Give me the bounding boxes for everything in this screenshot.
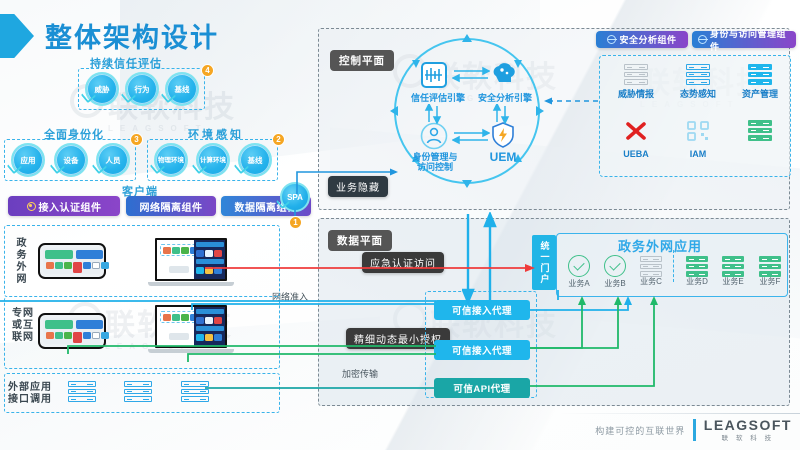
flow-line-access-blue-2 (0, 298, 440, 304)
item-threat-intel[interactable]: 威胁情报 (607, 64, 665, 100)
arrow-pair-bottom-icon (452, 128, 490, 146)
label-encrypted-transport: 加密传输 (342, 367, 378, 380)
proxy-trusted-api[interactable]: 可信API代理 (434, 378, 530, 398)
ring-threat[interactable]: 威胁 (85, 72, 119, 106)
analytics-icon (421, 62, 447, 88)
architecture-diagram-canvas: 联软科技 LEAGSOFT 联软科技 LEAGSOFT 联软科技 LEAGSOF… (0, 0, 800, 450)
server-icon (686, 64, 710, 85)
item-situation-awareness[interactable]: 态势感知 (669, 64, 727, 100)
footer-slogan: 构建可控的互联世界 (595, 424, 685, 437)
flow-line-emergency-red (205, 262, 745, 274)
badge-1: 1 (289, 216, 302, 229)
tag-iam-component[interactable]: 身份与访问管理组件 (692, 31, 796, 48)
ring-behavior[interactable]: 行为 (125, 72, 159, 106)
globe-icon (698, 35, 707, 44)
arrow-pair-top-icon (452, 66, 490, 84)
app-business-f[interactable]: 业务F (752, 256, 788, 287)
page-title: 整体架构设计 (45, 16, 219, 55)
proxy-trusted-access-2[interactable]: 可信接入代理 (434, 340, 530, 360)
shield-bolt-icon (491, 122, 515, 148)
node-label-identity-access: 身份管理与访问控制 (404, 152, 466, 172)
badge-4: 4 (201, 64, 214, 77)
phone-screen (43, 248, 101, 274)
ring-physical-env[interactable]: 物理环境 (154, 143, 188, 177)
arrow-pair-left-vertical-icon (424, 104, 444, 124)
item-iam[interactable]: IAM (669, 120, 727, 159)
external-server-1 (68, 381, 96, 405)
flow-line-green-2 (184, 340, 440, 364)
flow-line-teal (205, 385, 441, 391)
server-filled-icon (748, 64, 772, 85)
zone-label-private-internet: 专网或互联网 (10, 308, 36, 344)
tag-security-analysis-component[interactable]: 安全分析组件 (596, 31, 688, 48)
server-green-icon (748, 120, 772, 141)
item-green-server[interactable] (731, 120, 789, 143)
ring-device[interactable]: 设备 (54, 143, 88, 177)
title-arrow-icon (0, 14, 34, 58)
footer-divider-bar (693, 419, 696, 441)
qr-icon (686, 120, 710, 142)
node-label-security-engine: 安全分析引擎 (474, 93, 536, 103)
spa-to-circle-arrow-icon (295, 166, 405, 200)
server-icon (624, 64, 648, 85)
ring-personnel[interactable]: 人员 (96, 143, 130, 177)
arrow-pair-right-vertical-icon (492, 104, 512, 124)
zone-label-external-api: 外部应用接口调用 (8, 382, 60, 406)
laptop-screen (155, 238, 227, 281)
brand-name: LEAGSOFT (704, 418, 792, 432)
control-plane-title: 控制平面 (330, 50, 394, 71)
zone-label-gov-extranet: 政务外网 (10, 238, 34, 286)
components-to-circle-arrow-icon (540, 94, 600, 108)
component-network-isolation[interactable]: 网络隔离组件 (126, 196, 216, 216)
node-label-trust-engine: 信任评估引擎 (408, 93, 468, 103)
node-label-uem: UEM (481, 152, 525, 162)
x-mark-icon (624, 120, 648, 142)
ring-compute-env[interactable]: 计算环境 (196, 143, 230, 177)
badge-3: 3 (130, 133, 143, 146)
gov-apps-title: 政务外网应用 (618, 236, 702, 255)
user-icon (420, 122, 448, 150)
globe-icon (607, 35, 616, 44)
flow-lines-proxy-to-apps (530, 296, 780, 392)
component-access-auth[interactable]: 接入认证组件 (8, 196, 120, 216)
item-asset-management[interactable]: 资产管理 (731, 64, 789, 100)
proxy-control-vertical-arrows-icon (462, 212, 506, 304)
phone-device-1 (38, 243, 106, 279)
badge-2: 2 (272, 133, 285, 146)
footer: 构建可控的互联世界 LEAGSOFT 联 软 科 技 (595, 418, 792, 442)
server-green-icon (759, 256, 781, 275)
ring-env-baseline[interactable]: 基线 (238, 143, 272, 177)
brain-icon (490, 60, 518, 88)
item-ueba[interactable]: UEBA (607, 120, 665, 159)
footer-logo: LEAGSOFT 联 软 科 技 (704, 418, 792, 442)
target-icon (27, 202, 36, 211)
footer-divider (560, 413, 800, 414)
data-plane-title: 数据平面 (328, 230, 392, 251)
ring-application[interactable]: 应用 (11, 143, 45, 177)
ring-baseline[interactable]: 基线 (165, 72, 199, 106)
external-server-2 (124, 381, 152, 405)
portal-feed-line (556, 288, 576, 302)
brand-name-cn: 联 软 科 技 (704, 432, 792, 442)
